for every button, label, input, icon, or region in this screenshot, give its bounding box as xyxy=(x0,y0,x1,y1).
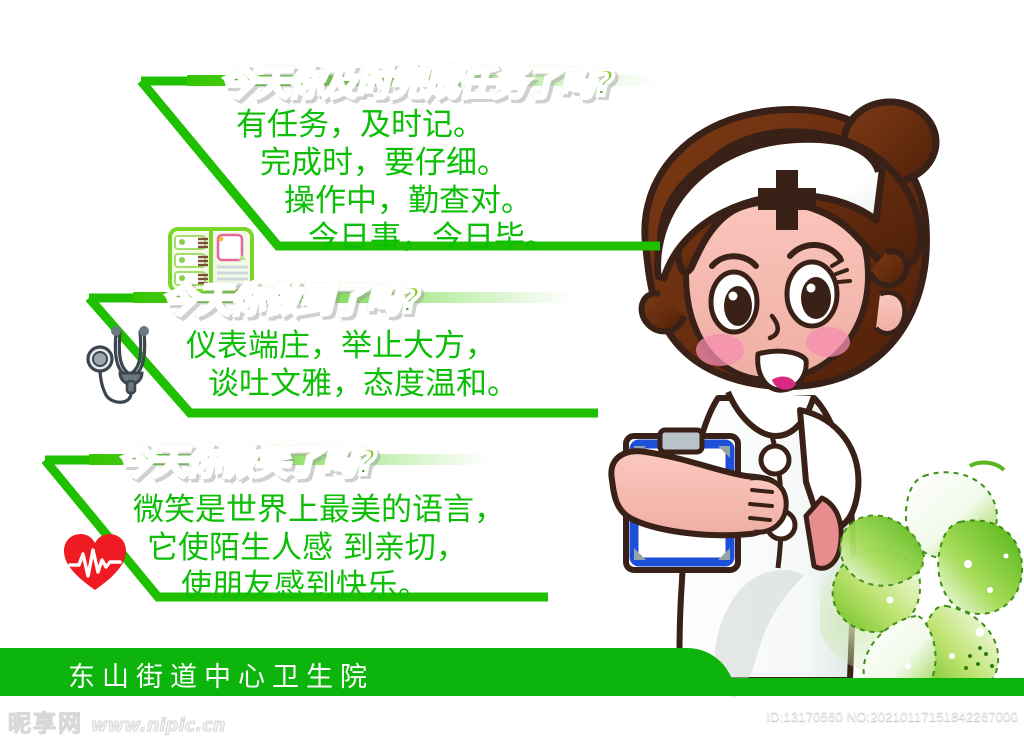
heart-pulse-icon xyxy=(62,532,128,594)
line: 操作中，勤查对。 xyxy=(284,183,556,221)
section-manner-header: 今天你做到了吗? xyxy=(118,272,375,323)
section-manner: 今天你做到了吗? 仪表端庄，举止大方， 谈吐文雅，态度温和。 xyxy=(0,280,640,420)
watermark-id: ID:13170560 NO:20210117151842267000 xyxy=(766,709,1018,724)
flower-decoration xyxy=(820,460,1024,696)
section-smile-lines: 微笑是世界上最美的语言， 它使陌生人感 到亲切， 使朋友感到快乐。 xyxy=(133,492,505,605)
line: 有任务，及时记。 xyxy=(236,107,556,145)
line: 使朋友感到快乐。 xyxy=(181,568,505,606)
section-manner-title: 今天你做到了吗? xyxy=(162,272,419,323)
poster-canvas: 今天你及时完成任务了吗? xyxy=(0,0,1024,737)
line: 它使陌生人感 到亲切， xyxy=(147,530,505,568)
section-smile-title: 今天你微笑了吗? xyxy=(118,434,375,485)
line: 微笑是世界上最美的语言， xyxy=(133,492,505,530)
watermark-site-cn: 昵享网 xyxy=(8,704,83,737)
watermark-site-url: www.nipic.cn xyxy=(91,715,226,736)
section-manner-lines: 仪表端庄，举止大方， 谈吐文雅，态度温和。 xyxy=(186,328,518,404)
line: 今日事，今日毕。 xyxy=(308,220,556,258)
organization-name: 东山街道中心卫生院 xyxy=(68,655,374,694)
stethoscope-icon xyxy=(76,325,162,405)
section-task-header: 今天你及时完成任务了吗? xyxy=(170,55,563,106)
line: 完成时，要仔细。 xyxy=(260,145,556,183)
section-task: 今天你及时完成任务了吗? xyxy=(0,55,700,270)
section-smile-header: 今天你微笑了吗? xyxy=(74,434,331,485)
line: 仪表端庄，举止大方， xyxy=(186,328,518,366)
section-task-title: 今天你及时完成任务了吗? xyxy=(220,55,613,106)
section-smile: 今天你微笑了吗? 微笑是世界上最美的语言， 它使陌生人感 到亲切， 使朋友感到快… xyxy=(0,440,620,615)
section-task-lines: 有任务，及时记。 完成时，要仔细。 操作中，勤查对。 今日事，今日毕。 xyxy=(236,107,556,258)
line: 谈吐文雅，态度温和。 xyxy=(208,366,518,404)
watermark-left: 昵享网 www.nipic.cn xyxy=(8,704,226,737)
